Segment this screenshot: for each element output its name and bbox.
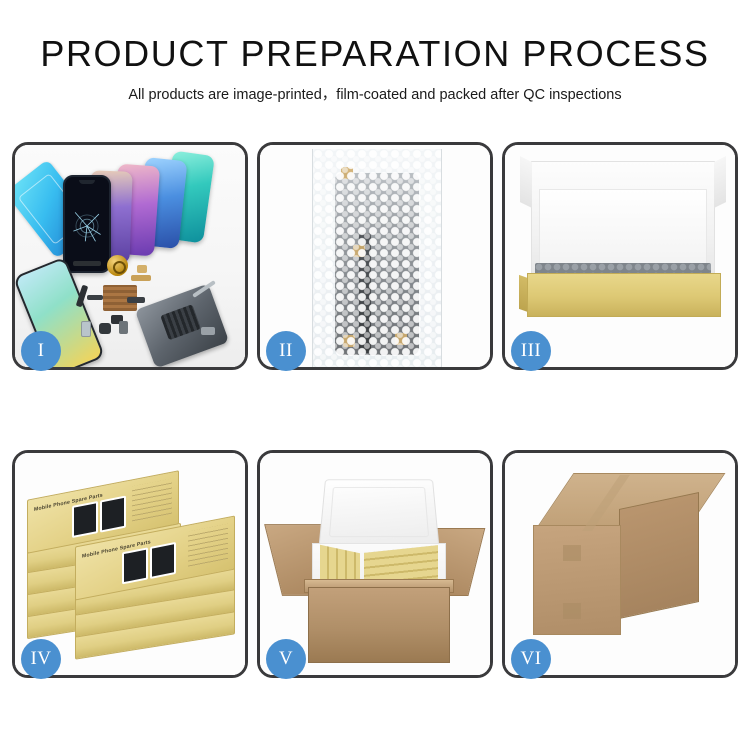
step-6-badge: VI xyxy=(511,639,551,679)
phone-cracked-screen xyxy=(63,175,111,273)
page-title: PRODUCT PREPARATION PROCESS xyxy=(0,34,750,74)
process-step-3: III xyxy=(502,142,738,370)
carton-right-face xyxy=(619,492,699,619)
camera-module-part xyxy=(119,321,128,334)
screws-part xyxy=(201,327,215,335)
page-header: PRODUCT PREPARATION PROCESS All products… xyxy=(0,0,750,104)
foam-lid xyxy=(319,479,440,546)
box-stack: Mobile Phone Spare Parts Mobile Phone Sp… xyxy=(23,471,239,667)
gold-contact-part xyxy=(131,275,151,281)
step-5-badge: V xyxy=(266,639,306,679)
process-step-grid: I II xyxy=(12,142,738,678)
copper-coil-part xyxy=(107,255,128,276)
page-subtitle: All products are image-printed，film-coat… xyxy=(0,83,750,104)
yellow-box-tray xyxy=(527,273,721,317)
connector-strip-part xyxy=(73,261,101,266)
white-foam-sheet xyxy=(539,189,707,269)
speaker-part xyxy=(99,323,111,334)
carton-body xyxy=(308,587,450,663)
step-3-badge: III xyxy=(511,331,551,371)
product-preparation-page: PRODUCT PREPARATION PROCESS All products… xyxy=(0,0,750,750)
carton-tape-front-upper xyxy=(563,545,581,561)
battery-connector-part xyxy=(81,321,91,337)
crack-icon xyxy=(70,209,104,243)
process-step-2: II xyxy=(257,142,493,370)
bubble-texture-overlay xyxy=(313,149,441,367)
process-step-1: I xyxy=(12,142,248,370)
gold-part-b xyxy=(137,265,147,273)
carton-tape-front-lower xyxy=(563,603,581,619)
process-step-6: VI xyxy=(502,450,738,678)
step-1-badge: I xyxy=(21,331,61,371)
small-part-a xyxy=(87,295,103,300)
small-part-c xyxy=(127,297,145,303)
process-step-5: V xyxy=(257,450,493,678)
process-step-4: Mobile Phone Spare Parts Mobile Phone Sp… xyxy=(12,450,248,678)
step-4-badge: IV xyxy=(21,639,61,679)
bubble-wrap-bag xyxy=(312,149,442,367)
step-2-badge: II xyxy=(266,331,306,371)
